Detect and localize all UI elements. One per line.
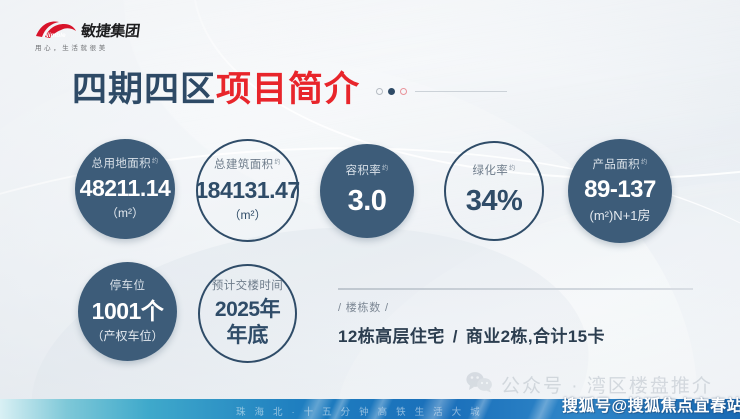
metric-circle-delivery-time: 预计交楼时间 2025年 年底 [198,264,297,363]
wechat-icon [466,371,493,398]
metric-value: 34% [466,187,523,216]
buildings-block: / 楼栋数 / 12栋高层住宅/商业2栋,合计15卡 [338,288,713,347]
metric-circle-product-area: 产品面积约 89-137 (m²)N+1房 [568,139,672,243]
buildings-value-right: 商业2栋,合计15卡 [466,327,605,346]
buildings-rule [338,288,693,290]
dot-filled-navy-icon [388,88,395,95]
metric-unit: （产权车位） [91,330,163,342]
metric-value: 3.0 [348,187,387,216]
brand-tagline: 用心，生活就很美 [35,42,164,52]
metric-label: 绿化率约 [472,166,515,178]
page-title-primary: 四期四区 [72,72,216,107]
metric-value: 48211.14 [80,177,171,200]
metric-circle-plot-ratio: 容积率约 3.0 [320,144,414,238]
metric-unit: （m²） [106,207,144,219]
metric-circle-land-area: 总用地面积约 48211.14 （m²） [75,139,175,239]
metric-label: 产品面积约 [592,160,647,172]
metric-circle-building-area: 总建筑面积约 184131.47 （m²） [196,139,299,242]
buildings-label: / 楼栋数 / [338,299,713,315]
metric-label: 总建筑面积约 [214,160,281,172]
sohu-watermark: 搜狐号@搜狐焦点宜春站 [562,392,740,416]
metric-unit: （m²） [229,209,267,221]
metric-label: 预计交楼时间 [212,281,283,293]
dot-hollow-red-icon [400,88,407,95]
metric-value: 184131.47 [195,179,299,202]
metric-sup: 约 [382,166,388,172]
brand-name-cn: 敏捷集团 [80,24,141,39]
nimble-logo-icon: Nimble [34,20,78,39]
buildings-value-left: 12栋高层住宅 [338,327,445,346]
metric-sup: 约 [152,159,158,165]
dot-hollow-gray-icon [376,88,383,95]
title-dots-decoration [376,88,407,95]
metric-unit: (m²)N+1房 [589,209,650,222]
buildings-value: 12栋高层住宅/商业2栋,合计15卡 [338,322,713,347]
metric-value: 89-137 [584,178,656,202]
band-slogan: 珠海北·十五分钟高铁生活大城 [236,404,489,418]
svg-text:Nimble: Nimble [44,32,66,39]
metric-label: 容积率约 [345,166,388,178]
metric-circle-green-ratio: 绿化率约 34% [444,141,544,241]
metric-label: 停车位 [110,281,146,293]
buildings-separator: / [445,327,466,346]
metric-sup: 约 [641,160,647,166]
metric-value: 2025年 [215,299,280,320]
metric-sup: 约 [275,160,281,166]
brand-logo: Nimble 敏捷集团 用心，生活就很美 [34,20,164,52]
slide-canvas: Nimble 敏捷集团 用心，生活就很美 四期四区 项目简介 总用地面积约 48… [0,0,740,419]
metric-circle-parking: 停车位 1001个 （产权车位） [78,262,177,361]
page-title: 四期四区 项目简介 [72,72,507,107]
metric-value: 1001个 [92,300,164,323]
metric-label: 总用地面积约 [92,159,159,171]
metric-sup: 约 [509,166,515,172]
metric-unit: 年底 [227,325,269,346]
band-streak-6 [517,399,566,419]
page-title-accent: 项目简介 [216,72,360,107]
title-rule [415,91,507,93]
